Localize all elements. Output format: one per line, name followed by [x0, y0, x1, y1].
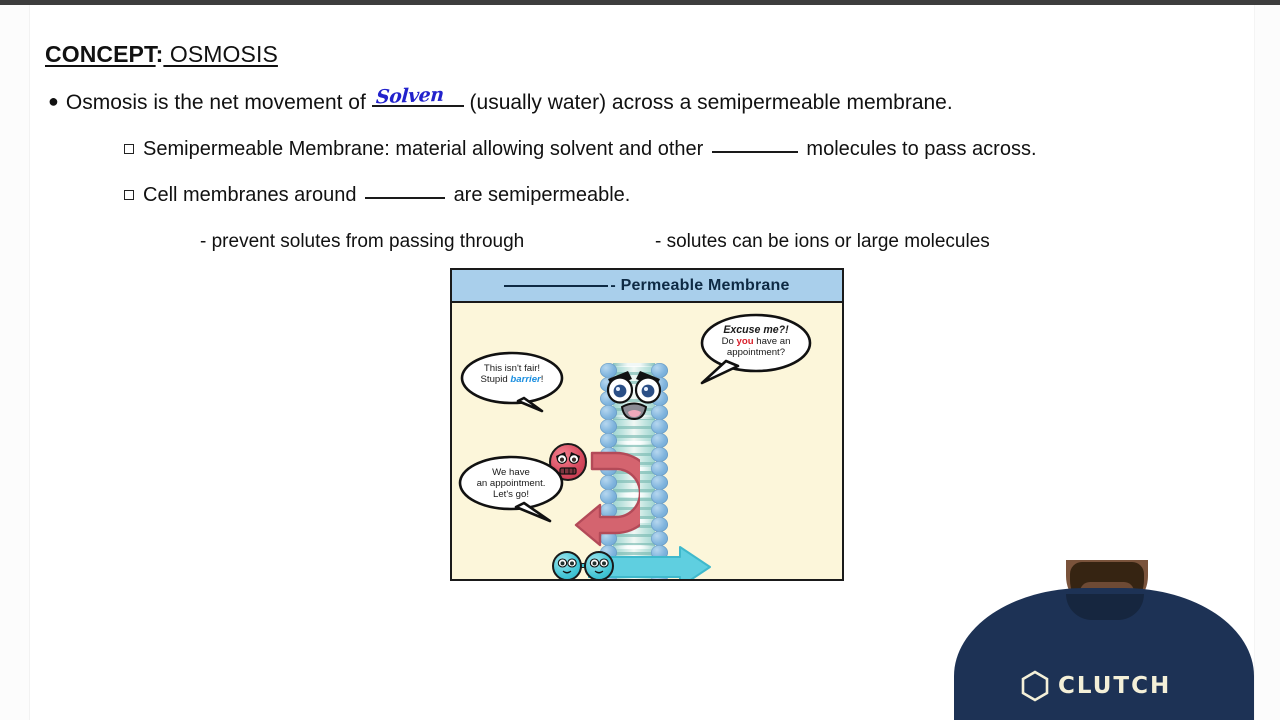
blank-permeability-type[interactable] [504, 285, 608, 287]
excuse-line-2: Do you have an [706, 336, 806, 347]
speech-bubble-excuse-text: Excuse me?! Do you have an appointment? [706, 324, 806, 359]
instructor-shirt: CLUTCH [954, 588, 1254, 720]
main-bullet-pre: Osmosis is the net movement of [66, 91, 366, 114]
barrier-line-2: Stupid barrier! [468, 374, 556, 385]
phospholipid-head [651, 433, 668, 448]
main-bullet-post: (usually water) across a semipermeable m… [470, 91, 953, 114]
membrane-angry-face-icon [592, 365, 676, 423]
speech-bubble-excuse: Excuse me?! Do you have an appointment? [700, 313, 812, 383]
detail-note-right: - solutes can be ions or large molecules [655, 231, 990, 253]
blank-solvent[interactable]: Solven [372, 105, 464, 107]
sub-bullet-a-post: molecules to pass across. [806, 138, 1036, 160]
blank-cells[interactable] [365, 197, 445, 199]
happy-face-icon [586, 553, 612, 579]
sub-bullet-b-pre: Cell membranes around [143, 184, 356, 206]
excuse-line-3: appointment? [706, 347, 806, 358]
title-lead: CONCEPT [45, 41, 156, 67]
presentation-screen: CONCEPT: OSMOSIS ●Osmosis is the net mov… [0, 0, 1280, 720]
handwritten-annotation: Solven [375, 84, 444, 109]
happy-face-icon [554, 553, 580, 579]
speech-bubble-barrier-text: This isn't fair! Stupid barrier! [468, 363, 556, 385]
phospholipid-head [651, 447, 668, 462]
hexagon-logo-icon [1020, 670, 1050, 702]
main-bullet: ●Osmosis is the net movement of Solven (… [48, 91, 953, 115]
page-title: CONCEPT: OSMOSIS [45, 41, 278, 68]
slide-content: CONCEPT: OSMOSIS ●Osmosis is the net mov… [0, 5, 1280, 720]
bullet-dot-icon: ● [48, 91, 59, 111]
osmosis-diagram: - Permeable Membrane [450, 268, 844, 581]
appt-line-3: Let's go! [466, 489, 556, 500]
phospholipid-head [651, 531, 668, 546]
phospholipid-head [651, 517, 668, 532]
shirt-logo: CLUTCH [1020, 670, 1171, 702]
diagram-header: - Permeable Membrane [452, 270, 842, 303]
solvent-molecule-right [584, 551, 614, 581]
passing-solvent-molecules [552, 551, 614, 581]
diagram-body: This isn't fair! Stupid barrier! Excuse … [452, 303, 842, 581]
speech-bubble-barrier: This isn't fair! Stupid barrier! [460, 351, 564, 411]
shirt-collar [1066, 594, 1144, 620]
square-bullet-icon [124, 144, 134, 154]
diagram-header-text: - Permeable Membrane [610, 277, 789, 295]
speech-bubble-appointment: We have an appointment. Let's go! [458, 455, 564, 521]
phospholipid-head [651, 475, 668, 490]
sub-bullet-cell-membranes: Cell membranes around are semipermeable. [124, 184, 630, 207]
sub-bullet-a-pre: Semipermeable Membrane: material allowin… [143, 138, 703, 160]
solvent-molecule-left [552, 551, 582, 581]
square-bullet-icon [124, 190, 134, 200]
speech-bubble-appointment-text: We have an appointment. Let's go! [466, 467, 556, 500]
instructor-webcam: CLUTCH [954, 560, 1254, 720]
detail-note-left: - prevent solutes from passing through [200, 231, 524, 253]
phospholipid-head [651, 461, 668, 476]
barrier-line-1: This isn't fair! [468, 363, 556, 374]
shirt-logo-text: CLUTCH [1058, 673, 1171, 699]
blank-molecules[interactable] [712, 151, 798, 153]
appt-line-1: We have [466, 467, 556, 478]
sub-bullet-semipermeable: Semipermeable Membrane: material allowin… [124, 138, 1037, 161]
excuse-line-1: Excuse me?! [706, 324, 806, 336]
sub-bullet-b-post: are semipermeable. [454, 184, 631, 206]
title-rest: OSMOSIS [163, 41, 278, 67]
appt-line-2: an appointment. [466, 478, 556, 489]
phospholipid-head [651, 503, 668, 518]
phospholipid-head [651, 489, 668, 504]
